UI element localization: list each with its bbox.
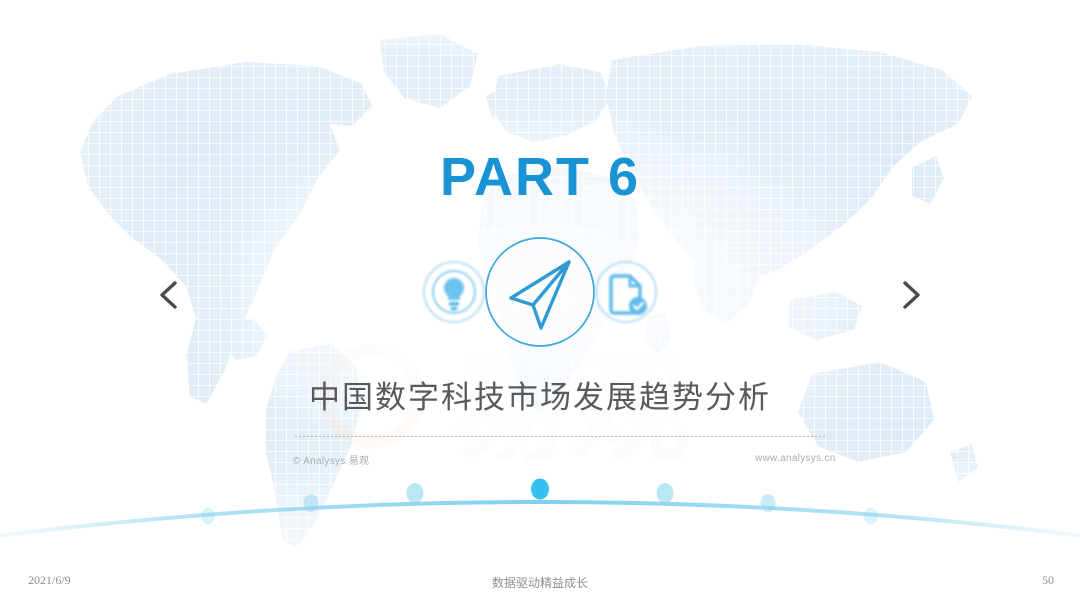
- paper-plane-icon: [473, 232, 607, 352]
- progress-dot[interactable]: [407, 483, 424, 503]
- chevron-right-icon[interactable]: [888, 273, 932, 317]
- footer-tagline: 数据驱动精益成长: [0, 574, 1080, 591]
- progress-dot[interactable]: [864, 508, 878, 525]
- progress-dot[interactable]: [657, 483, 674, 503]
- page-title: PART 6: [0, 146, 1080, 208]
- slide-root: 易观 PART 6: [0, 0, 1080, 608]
- footer-page-number: 50: [1042, 573, 1054, 588]
- chevron-left-icon[interactable]: [148, 273, 192, 317]
- divider: [295, 436, 825, 437]
- progress-dot[interactable]: [531, 479, 549, 500]
- progress-dot[interactable]: [304, 494, 319, 512]
- document-check-icon: [590, 256, 662, 328]
- slide-subtitle: 中国数字科技市场发展趋势分析: [0, 372, 1080, 417]
- progress-arc: [0, 466, 1080, 546]
- icon-cluster: [410, 232, 670, 352]
- progress-dot[interactable]: [201, 508, 215, 525]
- progress-dot[interactable]: [761, 494, 776, 512]
- website-label[interactable]: www.analysys.cn: [755, 453, 836, 464]
- copyright-label: © Analysys 易观: [293, 452, 369, 467]
